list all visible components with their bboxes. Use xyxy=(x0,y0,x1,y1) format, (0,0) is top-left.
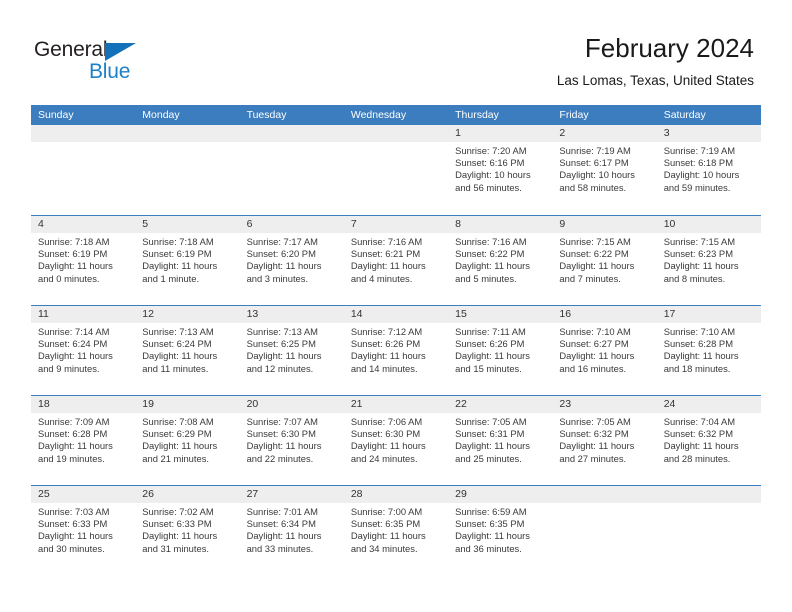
day-number: 22 xyxy=(448,396,552,413)
day-info xyxy=(135,142,239,145)
day-number: 5 xyxy=(135,216,239,233)
sunset-text: Sunset: 6:20 PM xyxy=(247,248,338,260)
daylight-text-line1: Daylight: 11 hours xyxy=(38,530,129,542)
sunset-text: Sunset: 6:28 PM xyxy=(38,428,129,440)
sunrise-text: Sunrise: 7:05 AM xyxy=(455,416,546,428)
day-info: Sunrise: 7:00 AM Sunset: 6:35 PM Dayligh… xyxy=(344,503,448,555)
day-cell[interactable]: 15 Sunrise: 7:11 AM Sunset: 6:26 PM Dayl… xyxy=(448,306,552,395)
daylight-text-line2: and 5 minutes. xyxy=(455,273,546,285)
sunset-text: Sunset: 6:23 PM xyxy=(664,248,755,260)
day-info: Sunrise: 7:20 AM Sunset: 6:16 PM Dayligh… xyxy=(448,142,552,194)
sunrise-text: Sunrise: 7:08 AM xyxy=(142,416,233,428)
sunrise-text: Sunrise: 7:05 AM xyxy=(559,416,650,428)
daylight-text-line1: Daylight: 11 hours xyxy=(38,260,129,272)
day-cell[interactable]: 21 Sunrise: 7:06 AM Sunset: 6:30 PM Dayl… xyxy=(344,396,448,485)
day-number: 1 xyxy=(448,125,552,142)
daylight-text-line2: and 34 minutes. xyxy=(351,543,442,555)
day-cell[interactable]: 10 Sunrise: 7:15 AM Sunset: 6:23 PM Dayl… xyxy=(657,216,761,305)
day-number: 19 xyxy=(135,396,239,413)
day-cell[interactable]: 5 Sunrise: 7:18 AM Sunset: 6:19 PM Dayli… xyxy=(135,216,239,305)
day-info: Sunrise: 7:13 AM Sunset: 6:25 PM Dayligh… xyxy=(240,323,344,375)
day-cell[interactable] xyxy=(657,486,761,575)
sunrise-text: Sunrise: 7:14 AM xyxy=(38,326,129,338)
sunset-text: Sunset: 6:22 PM xyxy=(559,248,650,260)
daylight-text-line1: Daylight: 11 hours xyxy=(247,260,338,272)
sunset-text: Sunset: 6:28 PM xyxy=(664,338,755,350)
daylight-text-line2: and 30 minutes. xyxy=(38,543,129,555)
day-cell[interactable] xyxy=(344,125,448,215)
daylight-text-line1: Daylight: 11 hours xyxy=(455,350,546,362)
sunset-text: Sunset: 6:25 PM xyxy=(247,338,338,350)
daylight-text-line1: Daylight: 11 hours xyxy=(455,260,546,272)
sunset-text: Sunset: 6:35 PM xyxy=(351,518,442,530)
daylight-text-line1: Daylight: 11 hours xyxy=(247,530,338,542)
sunrise-text: Sunrise: 7:18 AM xyxy=(38,236,129,248)
day-info: Sunrise: 7:14 AM Sunset: 6:24 PM Dayligh… xyxy=(31,323,135,375)
day-info xyxy=(552,503,656,506)
weekday-header-thursday: Thursday xyxy=(448,105,552,125)
day-number xyxy=(135,125,239,142)
day-info: Sunrise: 7:18 AM Sunset: 6:19 PM Dayligh… xyxy=(135,233,239,285)
sunset-text: Sunset: 6:18 PM xyxy=(664,157,755,169)
sunrise-text: Sunrise: 7:02 AM xyxy=(142,506,233,518)
day-cell[interactable]: 19 Sunrise: 7:08 AM Sunset: 6:29 PM Dayl… xyxy=(135,396,239,485)
day-number xyxy=(552,486,656,503)
weekday-header-monday: Monday xyxy=(135,105,239,125)
day-info: Sunrise: 7:01 AM Sunset: 6:34 PM Dayligh… xyxy=(240,503,344,555)
sunset-text: Sunset: 6:22 PM xyxy=(455,248,546,260)
day-info: Sunrise: 7:19 AM Sunset: 6:17 PM Dayligh… xyxy=(552,142,656,194)
daylight-text-line1: Daylight: 11 hours xyxy=(142,260,233,272)
day-info: Sunrise: 7:02 AM Sunset: 6:33 PM Dayligh… xyxy=(135,503,239,555)
daylight-text-line1: Daylight: 11 hours xyxy=(664,350,755,362)
day-number: 27 xyxy=(240,486,344,503)
day-info: Sunrise: 7:06 AM Sunset: 6:30 PM Dayligh… xyxy=(344,413,448,465)
daylight-text-line1: Daylight: 11 hours xyxy=(38,350,129,362)
daylight-text-line2: and 24 minutes. xyxy=(351,453,442,465)
day-cell[interactable]: 9 Sunrise: 7:15 AM Sunset: 6:22 PM Dayli… xyxy=(552,216,656,305)
day-info: Sunrise: 7:04 AM Sunset: 6:32 PM Dayligh… xyxy=(657,413,761,465)
day-cell[interactable]: 14 Sunrise: 7:12 AM Sunset: 6:26 PM Dayl… xyxy=(344,306,448,395)
weekday-header-wednesday: Wednesday xyxy=(344,105,448,125)
day-number: 14 xyxy=(344,306,448,323)
day-info: Sunrise: 7:16 AM Sunset: 6:21 PM Dayligh… xyxy=(344,233,448,285)
day-number: 24 xyxy=(657,396,761,413)
day-info: Sunrise: 7:07 AM Sunset: 6:30 PM Dayligh… xyxy=(240,413,344,465)
day-info: Sunrise: 7:19 AM Sunset: 6:18 PM Dayligh… xyxy=(657,142,761,194)
week-row: 1 Sunrise: 7:20 AM Sunset: 6:16 PM Dayli… xyxy=(31,125,761,215)
daylight-text-line1: Daylight: 11 hours xyxy=(351,440,442,452)
sunrise-text: Sunrise: 7:16 AM xyxy=(455,236,546,248)
daylight-text-line1: Daylight: 10 hours xyxy=(664,169,755,181)
day-info: Sunrise: 7:10 AM Sunset: 6:28 PM Dayligh… xyxy=(657,323,761,375)
daylight-text-line1: Daylight: 11 hours xyxy=(142,350,233,362)
sunrise-text: Sunrise: 7:17 AM xyxy=(247,236,338,248)
day-cell[interactable] xyxy=(135,125,239,215)
daylight-text-line2: and 0 minutes. xyxy=(38,273,129,285)
day-info: Sunrise: 7:15 AM Sunset: 6:22 PM Dayligh… xyxy=(552,233,656,285)
daylight-text-line1: Daylight: 11 hours xyxy=(38,440,129,452)
weekday-header-row: Sunday Monday Tuesday Wednesday Thursday… xyxy=(31,105,761,125)
daylight-text-line2: and 56 minutes. xyxy=(455,182,546,194)
sunset-text: Sunset: 6:33 PM xyxy=(142,518,233,530)
week-row: 11 Sunrise: 7:14 AM Sunset: 6:24 PM Dayl… xyxy=(31,305,761,395)
daylight-text-line2: and 14 minutes. xyxy=(351,363,442,375)
day-cell[interactable]: 25 Sunrise: 7:03 AM Sunset: 6:33 PM Dayl… xyxy=(31,486,135,575)
daylight-text-line2: and 22 minutes. xyxy=(247,453,338,465)
daylight-text-line2: and 19 minutes. xyxy=(38,453,129,465)
sunrise-text: Sunrise: 7:10 AM xyxy=(559,326,650,338)
sunrise-text: Sunrise: 6:59 AM xyxy=(455,506,546,518)
day-cell[interactable]: 6 Sunrise: 7:17 AM Sunset: 6:20 PM Dayli… xyxy=(240,216,344,305)
day-number: 4 xyxy=(31,216,135,233)
day-info: Sunrise: 7:17 AM Sunset: 6:20 PM Dayligh… xyxy=(240,233,344,285)
daylight-text-line1: Daylight: 11 hours xyxy=(142,440,233,452)
day-info: Sunrise: 7:16 AM Sunset: 6:22 PM Dayligh… xyxy=(448,233,552,285)
sunset-text: Sunset: 6:19 PM xyxy=(38,248,129,260)
sunrise-text: Sunrise: 7:19 AM xyxy=(664,145,755,157)
sunset-text: Sunset: 6:35 PM xyxy=(455,518,546,530)
daylight-text-line1: Daylight: 11 hours xyxy=(351,260,442,272)
daylight-text-line1: Daylight: 11 hours xyxy=(455,440,546,452)
sunset-text: Sunset: 6:24 PM xyxy=(38,338,129,350)
daylight-text-line2: and 7 minutes. xyxy=(559,273,650,285)
sunset-text: Sunset: 6:26 PM xyxy=(455,338,546,350)
day-cell[interactable]: 2 Sunrise: 7:19 AM Sunset: 6:17 PM Dayli… xyxy=(552,125,656,215)
day-info: Sunrise: 7:12 AM Sunset: 6:26 PM Dayligh… xyxy=(344,323,448,375)
sunrise-text: Sunrise: 7:07 AM xyxy=(247,416,338,428)
day-cell[interactable]: 13 Sunrise: 7:13 AM Sunset: 6:25 PM Dayl… xyxy=(240,306,344,395)
day-cell[interactable]: 16 Sunrise: 7:10 AM Sunset: 6:27 PM Dayl… xyxy=(552,306,656,395)
day-info: Sunrise: 7:05 AM Sunset: 6:32 PM Dayligh… xyxy=(552,413,656,465)
day-cell[interactable]: 28 Sunrise: 7:00 AM Sunset: 6:35 PM Dayl… xyxy=(344,486,448,575)
day-number xyxy=(657,486,761,503)
daylight-text-line2: and 36 minutes. xyxy=(455,543,546,555)
day-number xyxy=(31,125,135,142)
day-number: 7 xyxy=(344,216,448,233)
daylight-text-line2: and 33 minutes. xyxy=(247,543,338,555)
day-cell[interactable] xyxy=(552,486,656,575)
daylight-text-line2: and 4 minutes. xyxy=(351,273,442,285)
day-info xyxy=(344,142,448,145)
day-info: Sunrise: 7:03 AM Sunset: 6:33 PM Dayligh… xyxy=(31,503,135,555)
sunset-text: Sunset: 6:34 PM xyxy=(247,518,338,530)
day-number: 21 xyxy=(344,396,448,413)
day-info: Sunrise: 7:09 AM Sunset: 6:28 PM Dayligh… xyxy=(31,413,135,465)
day-info: Sunrise: 7:08 AM Sunset: 6:29 PM Dayligh… xyxy=(135,413,239,465)
day-number: 10 xyxy=(657,216,761,233)
day-cell[interactable]: 18 Sunrise: 7:09 AM Sunset: 6:28 PM Dayl… xyxy=(31,396,135,485)
sunset-text: Sunset: 6:30 PM xyxy=(247,428,338,440)
sunrise-text: Sunrise: 7:12 AM xyxy=(351,326,442,338)
day-number: 13 xyxy=(240,306,344,323)
daylight-text-line2: and 18 minutes. xyxy=(664,363,755,375)
sunrise-text: Sunrise: 7:20 AM xyxy=(455,145,546,157)
sunrise-text: Sunrise: 7:09 AM xyxy=(38,416,129,428)
daylight-text-line2: and 3 minutes. xyxy=(247,273,338,285)
day-info: Sunrise: 7:05 AM Sunset: 6:31 PM Dayligh… xyxy=(448,413,552,465)
day-cell[interactable]: 7 Sunrise: 7:16 AM Sunset: 6:21 PM Dayli… xyxy=(344,216,448,305)
day-info: Sunrise: 6:59 AM Sunset: 6:35 PM Dayligh… xyxy=(448,503,552,555)
sunset-text: Sunset: 6:33 PM xyxy=(38,518,129,530)
daylight-text-line1: Daylight: 11 hours xyxy=(351,530,442,542)
daylight-text-line2: and 27 minutes. xyxy=(559,453,650,465)
logo-text-blue: Blue xyxy=(89,60,130,84)
daylight-text-line1: Daylight: 11 hours xyxy=(559,350,650,362)
day-info: Sunrise: 7:15 AM Sunset: 6:23 PM Dayligh… xyxy=(657,233,761,285)
sunrise-text: Sunrise: 7:13 AM xyxy=(247,326,338,338)
sunset-text: Sunset: 6:29 PM xyxy=(142,428,233,440)
sunrise-text: Sunrise: 7:01 AM xyxy=(247,506,338,518)
daylight-text-line2: and 28 minutes. xyxy=(664,453,755,465)
sunset-text: Sunset: 6:16 PM xyxy=(455,157,546,169)
daylight-text-line1: Daylight: 11 hours xyxy=(559,260,650,272)
sunrise-text: Sunrise: 7:16 AM xyxy=(351,236,442,248)
daylight-text-line1: Daylight: 11 hours xyxy=(664,260,755,272)
day-cell[interactable]: 23 Sunrise: 7:05 AM Sunset: 6:32 PM Dayl… xyxy=(552,396,656,485)
day-number: 28 xyxy=(344,486,448,503)
sunrise-text: Sunrise: 7:19 AM xyxy=(559,145,650,157)
sunset-text: Sunset: 6:26 PM xyxy=(351,338,442,350)
title-block: February 2024 Las Lomas, Texas, United S… xyxy=(557,32,754,89)
weekday-header-sunday: Sunday xyxy=(31,105,135,125)
sunset-text: Sunset: 6:21 PM xyxy=(351,248,442,260)
day-number: 16 xyxy=(552,306,656,323)
weekday-header-friday: Friday xyxy=(552,105,656,125)
daylight-text-line2: and 58 minutes. xyxy=(559,182,650,194)
logo-text-general: General xyxy=(34,38,107,62)
day-cell[interactable]: 12 Sunrise: 7:13 AM Sunset: 6:24 PM Dayl… xyxy=(135,306,239,395)
day-info: Sunrise: 7:13 AM Sunset: 6:24 PM Dayligh… xyxy=(135,323,239,375)
daylight-text-line2: and 12 minutes. xyxy=(247,363,338,375)
daylight-text-line2: and 9 minutes. xyxy=(38,363,129,375)
daylight-text-line2: and 59 minutes. xyxy=(664,182,755,194)
day-number: 20 xyxy=(240,396,344,413)
sunrise-text: Sunrise: 7:11 AM xyxy=(455,326,546,338)
day-cell[interactable] xyxy=(31,125,135,215)
sunrise-text: Sunrise: 7:15 AM xyxy=(559,236,650,248)
sunset-text: Sunset: 6:32 PM xyxy=(664,428,755,440)
daylight-text-line1: Daylight: 11 hours xyxy=(351,350,442,362)
day-number xyxy=(344,125,448,142)
sunset-text: Sunset: 6:30 PM xyxy=(351,428,442,440)
day-number: 25 xyxy=(31,486,135,503)
day-cell[interactable]: 8 Sunrise: 7:16 AM Sunset: 6:22 PM Dayli… xyxy=(448,216,552,305)
day-number: 11 xyxy=(31,306,135,323)
day-number: 6 xyxy=(240,216,344,233)
daylight-text-line2: and 1 minute. xyxy=(142,273,233,285)
day-number: 17 xyxy=(657,306,761,323)
day-cell[interactable]: 1 Sunrise: 7:20 AM Sunset: 6:16 PM Dayli… xyxy=(448,125,552,215)
daylight-text-line2: and 21 minutes. xyxy=(142,453,233,465)
sunrise-text: Sunrise: 7:15 AM xyxy=(664,236,755,248)
day-number: 26 xyxy=(135,486,239,503)
day-number: 12 xyxy=(135,306,239,323)
daylight-text-line2: and 11 minutes. xyxy=(142,363,233,375)
day-number: 2 xyxy=(552,125,656,142)
sunrise-text: Sunrise: 7:06 AM xyxy=(351,416,442,428)
sunrise-text: Sunrise: 7:13 AM xyxy=(142,326,233,338)
day-info xyxy=(240,142,344,145)
sunset-text: Sunset: 6:31 PM xyxy=(455,428,546,440)
sunrise-text: Sunrise: 7:18 AM xyxy=(142,236,233,248)
day-cell[interactable]: 4 Sunrise: 7:18 AM Sunset: 6:19 PM Dayli… xyxy=(31,216,135,305)
sunset-text: Sunset: 6:24 PM xyxy=(142,338,233,350)
day-number: 18 xyxy=(31,396,135,413)
sunrise-text: Sunrise: 7:10 AM xyxy=(664,326,755,338)
sunrise-text: Sunrise: 7:03 AM xyxy=(38,506,129,518)
logo-triangle-icon xyxy=(105,43,136,61)
day-number: 9 xyxy=(552,216,656,233)
week-row: 4 Sunrise: 7:18 AM Sunset: 6:19 PM Dayli… xyxy=(31,215,761,305)
day-cell[interactable]: 27 Sunrise: 7:01 AM Sunset: 6:34 PM Dayl… xyxy=(240,486,344,575)
week-row: 18 Sunrise: 7:09 AM Sunset: 6:28 PM Dayl… xyxy=(31,395,761,485)
day-cell[interactable]: 22 Sunrise: 7:05 AM Sunset: 6:31 PM Dayl… xyxy=(448,396,552,485)
calendar-grid: Sunday Monday Tuesday Wednesday Thursday… xyxy=(31,105,761,575)
day-number: 3 xyxy=(657,125,761,142)
day-info: Sunrise: 7:18 AM Sunset: 6:19 PM Dayligh… xyxy=(31,233,135,285)
day-info: Sunrise: 7:11 AM Sunset: 6:26 PM Dayligh… xyxy=(448,323,552,375)
day-number xyxy=(240,125,344,142)
daylight-text-line2: and 8 minutes. xyxy=(664,273,755,285)
day-number: 8 xyxy=(448,216,552,233)
day-cell[interactable]: 26 Sunrise: 7:02 AM Sunset: 6:33 PM Dayl… xyxy=(135,486,239,575)
day-number: 15 xyxy=(448,306,552,323)
day-cell[interactable] xyxy=(240,125,344,215)
daylight-text-line1: Daylight: 11 hours xyxy=(455,530,546,542)
sunrise-text: Sunrise: 7:00 AM xyxy=(351,506,442,518)
daylight-text-line1: Daylight: 11 hours xyxy=(559,440,650,452)
daylight-text-line2: and 25 minutes. xyxy=(455,453,546,465)
daylight-text-line1: Daylight: 11 hours xyxy=(664,440,755,452)
sunrise-text: Sunrise: 7:04 AM xyxy=(664,416,755,428)
daylight-text-line1: Daylight: 10 hours xyxy=(559,169,650,181)
sunset-text: Sunset: 6:32 PM xyxy=(559,428,650,440)
sunset-text: Sunset: 6:17 PM xyxy=(559,157,650,169)
weekday-header-tuesday: Tuesday xyxy=(240,105,344,125)
daylight-text-line1: Daylight: 11 hours xyxy=(142,530,233,542)
page-subtitle: Las Lomas, Texas, United States xyxy=(557,73,754,89)
sunset-text: Sunset: 6:27 PM xyxy=(559,338,650,350)
daylight-text-line1: Daylight: 10 hours xyxy=(455,169,546,181)
day-number: 23 xyxy=(552,396,656,413)
day-number: 29 xyxy=(448,486,552,503)
day-info: Sunrise: 7:10 AM Sunset: 6:27 PM Dayligh… xyxy=(552,323,656,375)
week-row: 25 Sunrise: 7:03 AM Sunset: 6:33 PM Dayl… xyxy=(31,485,761,575)
weekday-header-saturday: Saturday xyxy=(657,105,761,125)
day-cell[interactable]: 20 Sunrise: 7:07 AM Sunset: 6:30 PM Dayl… xyxy=(240,396,344,485)
sunset-text: Sunset: 6:19 PM xyxy=(142,248,233,260)
day-cell[interactable]: 17 Sunrise: 7:10 AM Sunset: 6:28 PM Dayl… xyxy=(657,306,761,395)
day-cell[interactable]: 29 Sunrise: 6:59 AM Sunset: 6:35 PM Dayl… xyxy=(448,486,552,575)
calendar-page: General Blue February 2024 Las Lomas, Te… xyxy=(0,0,792,612)
day-info xyxy=(657,503,761,506)
daylight-text-line1: Daylight: 11 hours xyxy=(247,440,338,452)
daylight-text-line2: and 16 minutes. xyxy=(559,363,650,375)
general-blue-logo[interactable]: General Blue xyxy=(34,38,234,84)
day-cell[interactable]: 3 Sunrise: 7:19 AM Sunset: 6:18 PM Dayli… xyxy=(657,125,761,215)
daylight-text-line1: Daylight: 11 hours xyxy=(247,350,338,362)
day-cell[interactable]: 11 Sunrise: 7:14 AM Sunset: 6:24 PM Dayl… xyxy=(31,306,135,395)
page-title: February 2024 xyxy=(557,32,754,64)
day-cell[interactable]: 24 Sunrise: 7:04 AM Sunset: 6:32 PM Dayl… xyxy=(657,396,761,485)
daylight-text-line2: and 31 minutes. xyxy=(142,543,233,555)
day-info xyxy=(31,142,135,145)
daylight-text-line2: and 15 minutes. xyxy=(455,363,546,375)
page-header: General Blue February 2024 Las Lomas, Te… xyxy=(0,0,792,104)
